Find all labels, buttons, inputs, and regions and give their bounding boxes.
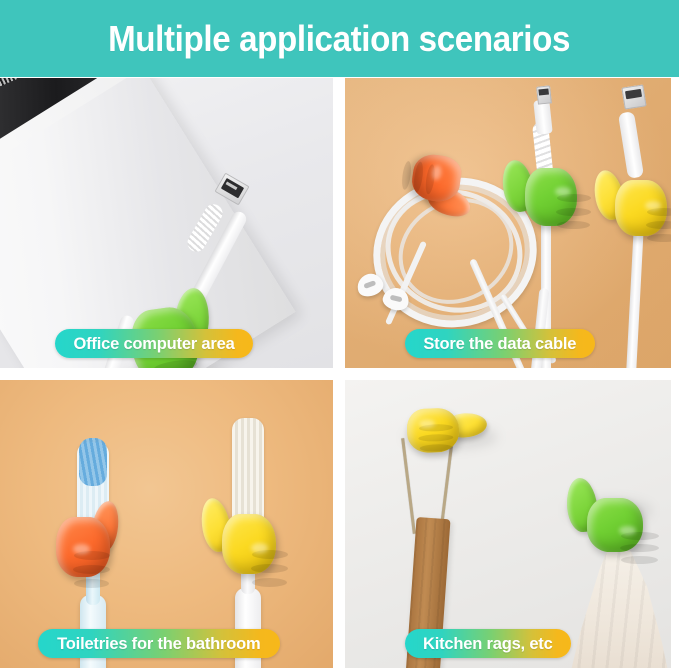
knuckle-line: [557, 221, 590, 229]
scenario-panel-office[interactable]: Office computer area: [0, 78, 333, 368]
knuckle-line: [420, 444, 453, 452]
badge-label: Kitchen rags, etc: [423, 634, 553, 654]
knuckle-line: [556, 208, 591, 216]
thumb-fist: [587, 498, 643, 552]
scenario-panel-data-cable[interactable]: Store the data cable: [345, 78, 671, 368]
lightning-connector-icon: [536, 85, 552, 104]
highlight: [555, 187, 571, 196]
scenario-panel-bathroom[interactable]: Toiletries for the bathroom: [0, 380, 333, 668]
keyboard-icon: [0, 78, 17, 93]
knuckle-line: [74, 579, 109, 588]
knuckle-line: [418, 434, 453, 442]
badge-label: Toiletries for the bathroom: [57, 634, 260, 654]
badge-label: Store the data cable: [423, 334, 576, 354]
thumb-fist: [615, 180, 667, 236]
scenario-panel-kitchen[interactable]: Kitchen rags, etc: [345, 380, 671, 668]
thumb-hook-yellow: [402, 399, 490, 458]
knuckle-line: [621, 556, 658, 564]
thumb-clip-green: [503, 154, 587, 230]
thumb-fist: [222, 514, 276, 574]
badge-kitchen: Kitchen rags, etc: [405, 629, 571, 658]
badge-office: Office computer area: [55, 329, 253, 358]
thumb-hook-green: [563, 474, 651, 556]
knuckle-line: [620, 544, 659, 552]
highlight: [431, 165, 442, 181]
badge-data-cable: Store the data cable: [405, 329, 595, 358]
product-infographic: Multiple application scenarios: [0, 0, 679, 668]
highlight: [619, 526, 636, 535]
usb-contact: [221, 178, 244, 198]
thumb-fist: [525, 168, 577, 226]
knuckle-line: [73, 565, 110, 574]
header-banner: Multiple application scenarios: [0, 0, 679, 77]
thumb-clip-yellow: [593, 164, 671, 242]
page-title: Multiple application scenarios: [109, 18, 571, 60]
thumb-fist: [406, 408, 460, 454]
knuckle-line: [153, 358, 198, 368]
badge-label: Office computer area: [73, 334, 234, 354]
thumb-clip-orange: [46, 495, 124, 581]
micro-usb-connector-icon: [621, 84, 646, 109]
highlight: [251, 543, 268, 553]
knuckle-line: [251, 564, 288, 573]
thumb-clip-orange: [404, 150, 479, 229]
scenario-grid: Office computer area: [0, 78, 671, 668]
highlight: [73, 544, 90, 554]
knuckle-line: [412, 161, 424, 193]
knuckle-line: [646, 221, 671, 229]
highlight: [645, 201, 661, 210]
badge-bathroom: Toiletries for the bathroom: [38, 629, 280, 658]
knuckle-line: [647, 234, 671, 242]
toothbrush-bristles-blue: [79, 438, 107, 486]
knuckle-line: [252, 578, 287, 587]
lightning-connector-body: [533, 99, 552, 134]
thumb-clip-yellow: [200, 490, 280, 578]
thumb-fist: [56, 517, 110, 577]
